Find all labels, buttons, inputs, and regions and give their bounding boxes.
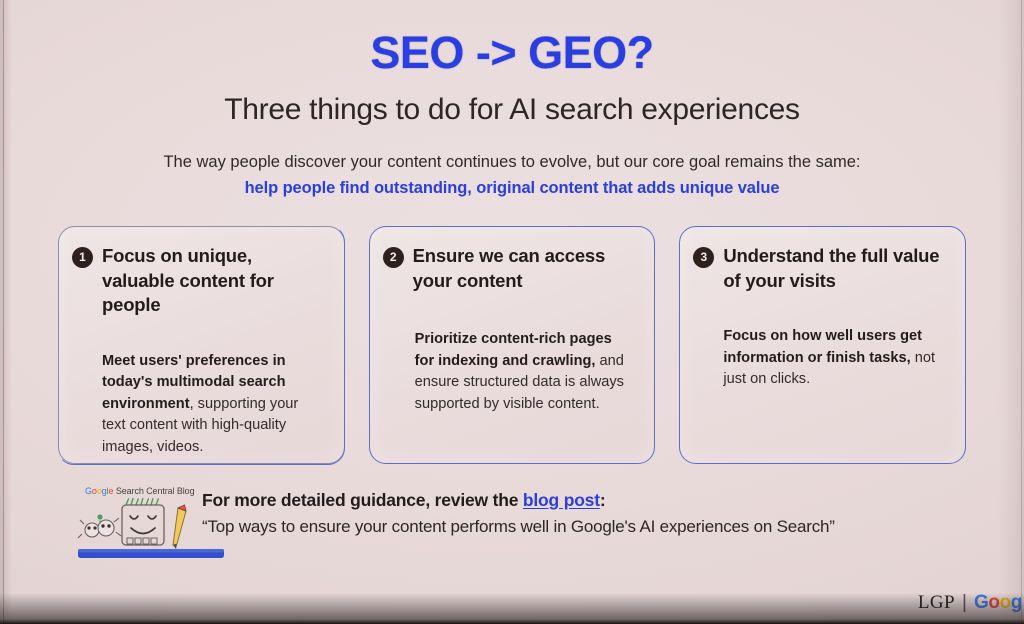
blocks-row — [127, 538, 157, 544]
footer-text-block: For more detailed guidance, review the b… — [202, 490, 958, 537]
slide-footer: Google Search Central Blog — [60, 480, 960, 570]
lede-line-2-accent: help people find outstanding, original c… — [0, 176, 1024, 202]
card-2-number-badge: 2 — [383, 247, 404, 268]
brand-divider: | — [962, 592, 967, 614]
footer-guidance-line: For more detailed guidance, review the b… — [202, 490, 958, 511]
card-2-body-emphasis: Prioritize content-rich pages for indexi… — [415, 331, 612, 368]
card-1-header: 1 Focus on unique, valuable content for … — [72, 243, 324, 318]
footer-article-title: “Top ways to ensure your content perform… — [202, 517, 958, 537]
slide-title: SEO -> GEO? — [0, 27, 1024, 79]
card-2-body: Prioritize content-rich pages for indexi… — [415, 329, 635, 415]
corner-branding: LGP | Goog — [918, 592, 1022, 614]
card-1-number-badge: 1 — [72, 247, 93, 268]
blog-wordmark-google: Google — [85, 486, 113, 496]
card-1-body: Meet users' preferences in today's multi… — [102, 351, 324, 458]
card-2-ensure-we-can-access-your-content[interactable]: 2 Ensure we can access your content Prio… — [369, 226, 656, 464]
google-logo-truncated: Goog — [974, 592, 1022, 614]
cards-row: 1 Focus on unique, valuable content for … — [58, 226, 966, 464]
slide-subtitle: Three things to do for AI search experie… — [0, 93, 1024, 127]
blog-wordmark-rest: Search Central Blog — [113, 486, 194, 496]
card-3-title: Understand the full value of your visits — [723, 243, 945, 293]
pencil-icon — [173, 505, 186, 549]
footer-line1-before: For more detailed guidance, review the — [202, 490, 523, 510]
blog-wordmark-label: Google Search Central Blog — [85, 486, 194, 496]
card-2-title: Ensure we can access your content — [413, 243, 635, 293]
slide-lede: The way people discover your content con… — [0, 150, 1024, 201]
card-3-body: Focus on how well users get information … — [723, 326, 945, 390]
card-3-number-badge: 3 — [693, 247, 714, 268]
blog-post-link[interactable]: blog post — [523, 490, 600, 510]
card-1-title: Focus on unique, valuable content for pe… — [102, 243, 324, 318]
lede-line-1: The way people discover your content con… — [163, 153, 860, 171]
card-3-body-emphasis: Focus on how well users get information … — [723, 328, 922, 365]
card-1-focus-on-unique-valuable-content[interactable]: 1 Focus on unique, valuable content for … — [58, 226, 345, 464]
lgp-logo-text: LGP — [918, 592, 955, 614]
card-3-understand-the-full-value-of-your-visits[interactable]: 3 Understand the full value of your visi… — [679, 226, 966, 464]
card-3-header: 3 Understand the full value of your visi… — [693, 243, 945, 293]
footer-line1-after: : — [600, 490, 606, 510]
crawler-figures — [78, 514, 121, 538]
presentation-slide: SEO -> GEO? Three things to do for AI se… — [0, 0, 1024, 624]
card-2-header: 2 Ensure we can access your content — [383, 243, 635, 293]
